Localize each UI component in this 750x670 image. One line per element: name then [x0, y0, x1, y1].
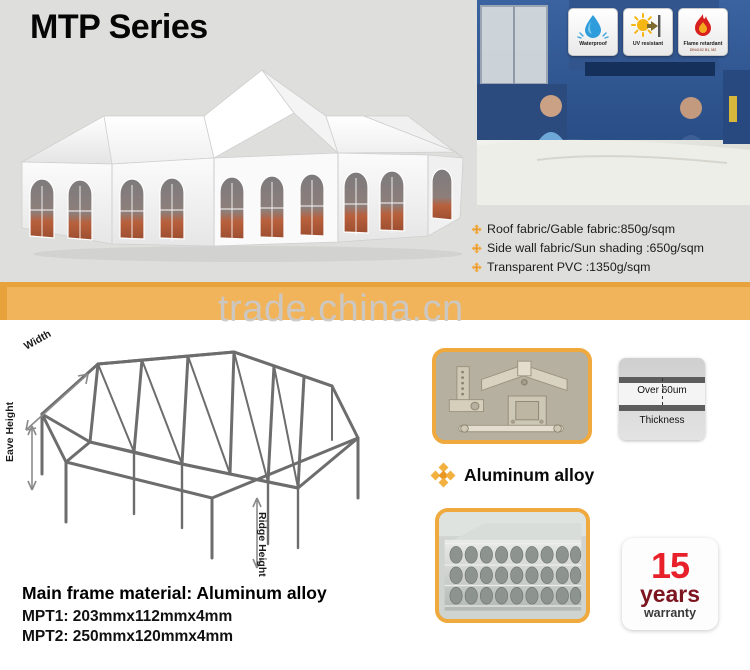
diamond-bullet-icon [472, 263, 481, 272]
badge-waterproof: Waterproof [568, 8, 618, 56]
diamond-bullet-icon [472, 244, 481, 253]
divider-top-stripe [0, 282, 750, 287]
spec-item: Side wall fabric/Sun shading :650g/sqm [472, 239, 748, 258]
diamond-bullet-icon [472, 225, 481, 234]
sun-icon [631, 12, 665, 40]
mpt1-spec-text: MPT1: 203mmx112mmx4mm [22, 608, 232, 626]
tent-illustration [8, 58, 478, 270]
aluminum-alloy-heading: Aluminum alloy [432, 464, 594, 486]
product-sheet-page: MTP Series [0, 0, 750, 670]
spec-item-text: Roof fabric/Gable fabric:850g/sqm [487, 220, 675, 239]
diamond-cluster-icon [432, 464, 454, 486]
badge-flame-retardant: Flame retardant DIN4102 B1, M2 [678, 8, 728, 56]
top-section: MTP Series [0, 0, 750, 282]
frame-structure-diagram [2, 322, 402, 584]
warranty-caption: warranty [644, 607, 696, 621]
frame-label-eave-height: Eave Height [4, 402, 16, 462]
spec-item: Transparent PVC :1350g/sqm [472, 258, 748, 277]
watermark: trade.china.cn [218, 288, 464, 331]
coating-thickness-panel: Over 60um Thickness [619, 358, 705, 440]
main-frame-material-text: Main frame material: Aluminum alloy [22, 583, 327, 604]
frame-wireframe [2, 322, 402, 584]
warranty-unit: years [640, 583, 700, 606]
warranty-badge: 15 years warranty [622, 538, 718, 630]
page-title: MTP Series [30, 8, 208, 47]
spec-item-text: Transparent PVC :1350g/sqm [487, 258, 650, 277]
water-drop-icon [576, 12, 610, 40]
tent-product-image [8, 58, 478, 270]
badge-flame-retardant-standard: DIN4102 B1, M2 [684, 48, 723, 52]
certification-badges: Waterproof UV resistant [568, 8, 728, 56]
flame-icon [686, 12, 720, 40]
badge-flame-retardant-title: Flame retardant [684, 41, 723, 47]
aluminum-alloy-label: Aluminum alloy [464, 465, 594, 486]
badge-uv-resistant-label: UV resistant [633, 42, 663, 48]
badge-flame-retardant-label: Flame retardant DIN4102 B1, M2 [684, 42, 723, 52]
hardware-fittings-photo [432, 348, 592, 444]
warranty-number: 15 [651, 549, 689, 582]
aluminum-profile-photo [435, 508, 590, 623]
fabric-spec-list: Roof fabric/Gable fabric:850g/sqm Side w… [472, 220, 748, 277]
spec-item: Roof fabric/Gable fabric:850g/sqm [472, 220, 748, 239]
mpt2-spec-text: MPT2: 250mmx120mmx4mm [22, 628, 233, 646]
badge-waterproof-label: Waterproof [579, 42, 606, 48]
thickness-value: Over 60um [619, 385, 705, 396]
badge-uv-resistant: UV resistant [623, 8, 673, 56]
hardware-fittings-graphic [436, 352, 588, 440]
aluminum-profile-graphic [439, 512, 586, 619]
thickness-caption: Thickness [619, 415, 705, 426]
spec-item-text: Side wall fabric/Sun shading :650g/sqm [487, 239, 704, 258]
frame-label-ridge-height: Ridge Height [256, 512, 268, 577]
